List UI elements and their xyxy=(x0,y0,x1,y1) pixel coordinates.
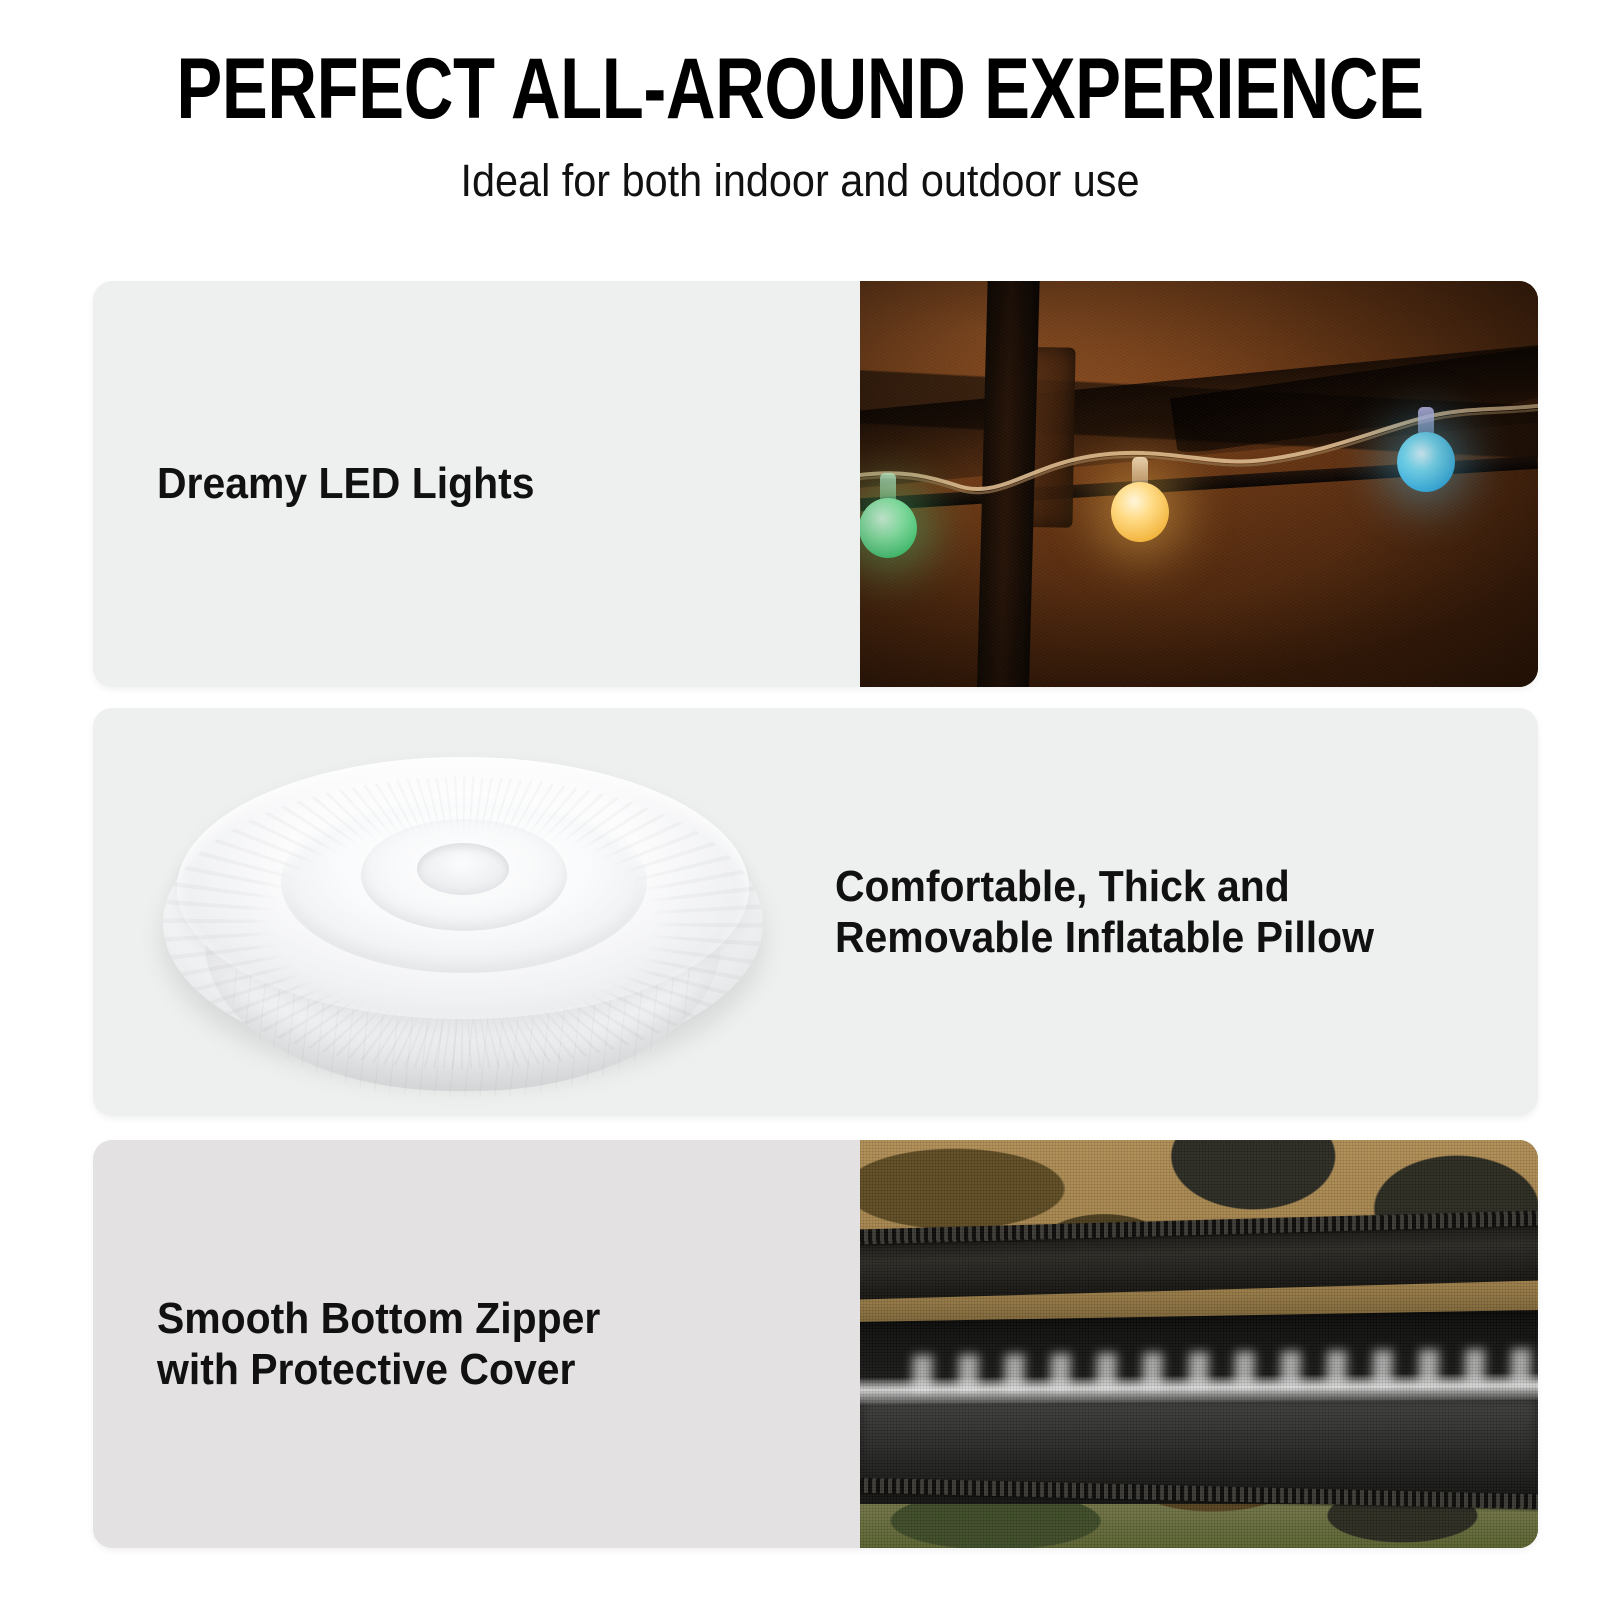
caption-block-led-lights: Dreamy LED Lights xyxy=(93,281,860,687)
feature-photo-inflatable-pillow xyxy=(93,708,813,1116)
header: PERFECT ALL-AROUND EXPERIENCE Ideal for … xyxy=(0,46,1600,203)
feature-photo-bottom-zipper xyxy=(860,1140,1538,1548)
page-subtitle: Ideal for both indoor and outdoor use xyxy=(64,132,1536,203)
caption-block-inflatable-pillow: Comfortable, Thick and Removable Inflata… xyxy=(813,708,1533,1116)
feature-panel-led-lights: Dreamy LED Lights xyxy=(93,281,1538,687)
caption-block-bottom-zipper: Smooth Bottom Zipper with Protective Cov… xyxy=(93,1140,860,1548)
pillow-image-area xyxy=(133,722,793,1106)
inflatable-pillow xyxy=(163,751,763,1077)
pillow-seam-pleats xyxy=(163,777,763,1069)
feature-caption-bottom-zipper: Smooth Bottom Zipper with Protective Cov… xyxy=(157,1293,600,1396)
feature-photo-led-lights xyxy=(860,281,1538,687)
feature-caption-led-lights: Dreamy LED Lights xyxy=(157,458,534,509)
feature-panel-bottom-zipper: Smooth Bottom Zipper with Protective Cov… xyxy=(93,1140,1538,1548)
feature-panel-inflatable-pillow: Comfortable, Thick and Removable Inflata… xyxy=(93,708,1538,1116)
photo-vignette xyxy=(860,281,1538,687)
infographic-page: PERFECT ALL-AROUND EXPERIENCE Ideal for … xyxy=(0,0,1600,1600)
feature-caption-inflatable-pillow: Comfortable, Thick and Removable Inflata… xyxy=(835,861,1374,964)
page-title: PERFECT ALL-AROUND EXPERIENCE xyxy=(160,46,1440,132)
fabric-weave-overlay xyxy=(860,1140,1538,1548)
